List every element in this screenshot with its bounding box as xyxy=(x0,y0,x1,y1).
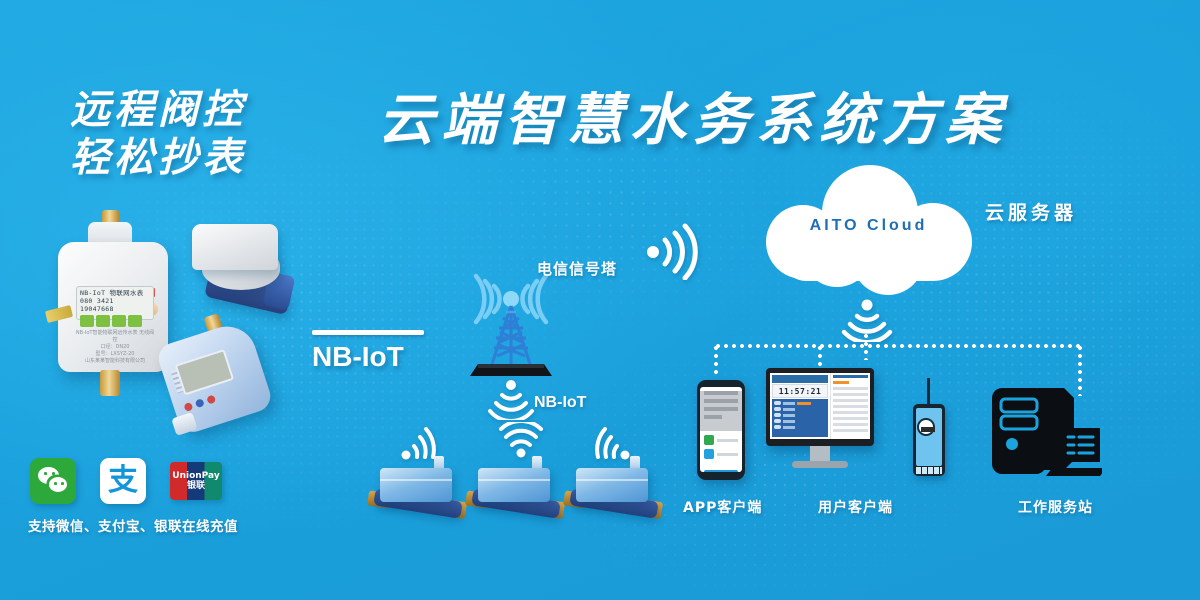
desktop-monitor-icon: 11:57:21 xyxy=(766,368,874,480)
workstation-icon xyxy=(986,382,1102,480)
smartphone-icon xyxy=(697,380,745,480)
handheld-reader-icon xyxy=(913,404,945,476)
wifi-meter-1-icon xyxy=(395,424,439,462)
meter-white-lcd-line1: NB-IoT 物联网水表 xyxy=(80,289,150,297)
meter-white-nameplate: NB-IoT智能物联网远传水表 无线阀控 口径：DN20 型号：LXSYZ-20… xyxy=(74,330,156,365)
connector-app-stem xyxy=(714,344,718,378)
wifi-meter-2-icon xyxy=(498,422,544,458)
meter-white-lcd: NB-IoT 物联网水表 080 3421 19047668 xyxy=(76,286,154,320)
unionpay-line-2: 银联 xyxy=(172,481,219,491)
cloud-server-label: 云服务器 xyxy=(985,198,1077,225)
signal-right-icon xyxy=(640,220,702,280)
alipay-glyph: 支 xyxy=(108,466,138,496)
nbiot-underline xyxy=(312,330,424,335)
field-meter-2 xyxy=(470,462,566,524)
page-title: 云端智慧水务系统方案 xyxy=(378,88,1008,154)
nameplate-line-5: 山东某某智能科技有限公司 xyxy=(74,358,156,365)
connector-bus xyxy=(714,344,1080,348)
slogan-line-2: 轻松抄表 xyxy=(70,134,246,182)
meter-white-seal-tag xyxy=(45,305,73,323)
nbiot-primary-label: NB-IoT xyxy=(312,341,424,373)
field-meter-1 xyxy=(372,462,468,524)
monitor-clock: 11:57:21 xyxy=(772,384,828,398)
meter-white-body: NB-IoT 物联网水表 080 3421 19047668 NB-IoT智能物… xyxy=(58,242,168,372)
unionpay-line-1: UnionPay xyxy=(172,471,219,481)
meter-white-lcd-cells xyxy=(80,315,150,327)
nbiot-secondary-label: NB-IoT xyxy=(534,394,586,412)
cloud-shape: AITO Cloud xyxy=(766,165,971,293)
slogan: 远程阀控 轻松抄表 xyxy=(70,86,246,182)
meter-valve-head xyxy=(192,224,278,270)
field-meter-3 xyxy=(568,462,664,524)
meter-white-lcd-line2: 080 3421 19047668 xyxy=(80,297,150,313)
unionpay-icon: UnionPay 银联 xyxy=(170,462,222,500)
cloud-name: AITO Cloud xyxy=(766,217,971,235)
nameplate-line-1: NB-IoT智能物联网远传水表 无线阀控 xyxy=(74,330,156,344)
slogan-line-1: 远程阀控 xyxy=(70,86,246,134)
connector-desktop-stem xyxy=(818,344,822,370)
meter-lcd-indicators xyxy=(183,394,216,411)
client-label-work: 工作服务站 xyxy=(1018,497,1093,517)
payment-logos: 支 UnionPay 银联 xyxy=(30,458,222,504)
poster-canvas: 远程阀控 轻松抄表 云端智慧水务系统方案 NB-IoT 物联网水表 080 34… xyxy=(0,0,1200,600)
nameplate-line-3: 型号：LXSYZ-20 xyxy=(74,351,156,358)
meter-lcd-display xyxy=(175,349,234,396)
meter-white-outlet-pipe xyxy=(100,370,120,396)
nbiot-primary-badge: NB-IoT xyxy=(312,330,424,373)
signal-tower-down-icon xyxy=(486,378,536,420)
nameplate-line-2: 口径：DN20 xyxy=(74,344,156,351)
telecom-tower-icon xyxy=(466,272,556,380)
client-label-user: 用户客户端 xyxy=(818,497,893,517)
client-label-app: APP客户端 xyxy=(683,497,762,517)
payment-note: 支持微信、支付宝、银联在线充值 xyxy=(28,515,238,535)
tower-label: 电信信号塔 xyxy=(537,258,617,279)
wechat-icon xyxy=(30,458,76,504)
alipay-icon: 支 xyxy=(100,458,146,504)
